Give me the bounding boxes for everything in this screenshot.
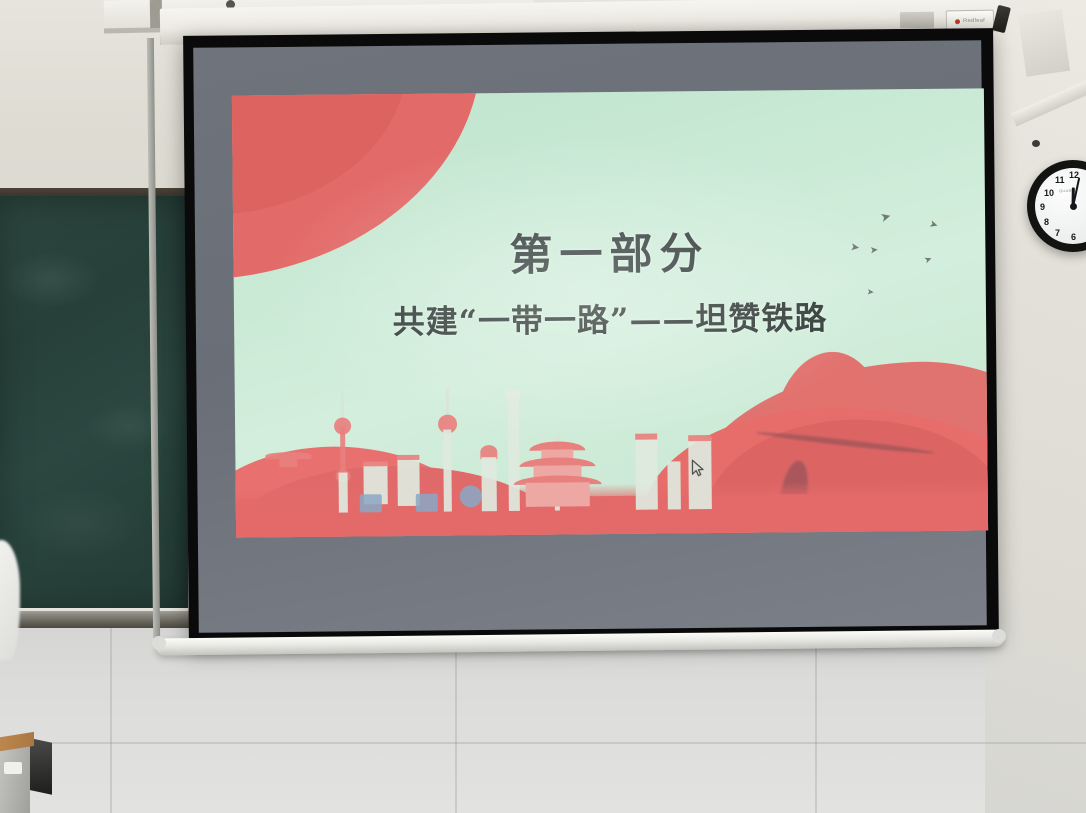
tile-seam [455,640,457,813]
clock-number-6: 6 [1071,232,1076,242]
clock-number-7: 7 [1055,228,1060,238]
pagoda [513,440,602,507]
tile-seam [815,640,817,813]
building-block [635,436,658,510]
classroom-photo: Redleaf ➤ ➤ ➤ ➤ ➤ ➤ [0,0,1086,813]
building-cap [397,455,419,460]
podium-body [0,745,30,813]
presentation-slide[interactable]: ➤ ➤ ➤ ➤ ➤ ➤ [232,88,988,537]
building-cap [635,434,657,440]
building-block [667,461,680,509]
tv-tower-shaft [443,430,452,512]
housing-brand-text: Redleaf [963,18,985,23]
pearl-tower-shaft [340,427,345,475]
dome-building-shaft [481,457,497,511]
pagoda-base [526,482,590,507]
screen-bar-endcap [152,636,166,650]
building-cap [688,435,711,441]
wall-fixture-upper [1018,9,1070,77]
building-cap [363,461,387,466]
tv-tower-antenna [446,388,449,418]
clock-number-8: 8 [1044,217,1049,227]
brand-dot-icon [955,19,960,24]
tile-seam [110,625,112,813]
clock-number-9: 9 [1040,202,1045,212]
pavilion-body [279,458,297,467]
clock-number-10: 10 [1044,188,1054,198]
building-accent [360,494,382,512]
clock-center-pin [1070,203,1077,210]
tall-tower-cap [506,390,521,399]
clock-face: QUARTZ 12 1 2 3 4 5 6 7 8 9 10 11 [1035,168,1086,244]
blackboard [0,196,188,616]
mouse-pointer-icon [691,459,704,477]
tile-seam [0,742,1086,744]
building-accent [416,494,438,512]
clock-number-11: 11 [1055,175,1065,185]
chalk-tray-highlight [0,608,190,611]
pearl-tower-base [339,473,348,513]
round-building [460,485,482,507]
chalk-tray [0,608,190,628]
wall-right [985,0,1086,813]
slide-title: 第一部分 [233,216,986,285]
screen-bar-endcap [992,629,1006,643]
podium-label [4,762,22,774]
housing-vent [900,12,934,29]
slide-subtitle: 共建“一带一路”——坦赞铁路 [234,291,986,344]
wall-screw [1032,140,1040,147]
